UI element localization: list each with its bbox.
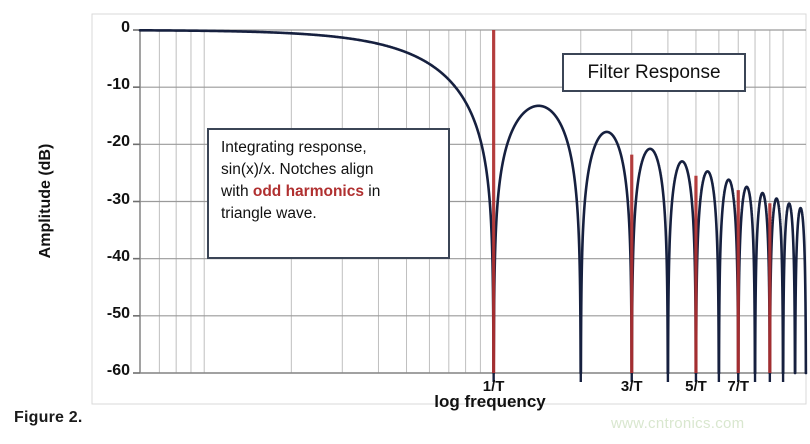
x-tick-label: 1/T xyxy=(464,378,524,395)
y-tick-label: -30 xyxy=(84,191,130,209)
annotation-callout: Integrating response, sin(x)/x. Notches … xyxy=(207,128,450,259)
annotation-highlight: odd harmonics xyxy=(253,183,364,200)
y-tick-label: -50 xyxy=(84,305,130,323)
y-tick-label: -60 xyxy=(84,362,130,380)
figure-caption: Figure 2. xyxy=(14,409,82,427)
y-tick-label: -20 xyxy=(84,133,130,151)
annotation-line-3-pre: with xyxy=(221,183,253,200)
x-tick-label: 7/T xyxy=(708,378,768,395)
annotation-line-2: sin(x)/x. Notches align xyxy=(221,159,438,181)
series-legend-label: Filter Response xyxy=(562,53,746,92)
y-tick-label: -10 xyxy=(84,76,130,94)
annotation-line-4: triangle wave. xyxy=(221,203,438,225)
watermark: www.cntronics.com xyxy=(611,415,744,432)
series-legend-text: Filter Response xyxy=(587,62,720,84)
y-tick-label: -40 xyxy=(84,248,130,266)
y-axis-title: Amplitude (dB) xyxy=(37,106,55,296)
figure-container: Amplitude (dB) log frequency 0-10-20-30-… xyxy=(0,0,810,444)
annotation-line-1: Integrating response, xyxy=(221,137,438,159)
x-tick-label: 3/T xyxy=(602,378,662,395)
y-tick-label: 0 xyxy=(84,19,130,37)
annotation-line-3-post: in xyxy=(364,183,380,200)
x-axis-title: log frequency xyxy=(380,392,600,412)
annotation-line-3: with odd harmonics in xyxy=(221,181,438,203)
